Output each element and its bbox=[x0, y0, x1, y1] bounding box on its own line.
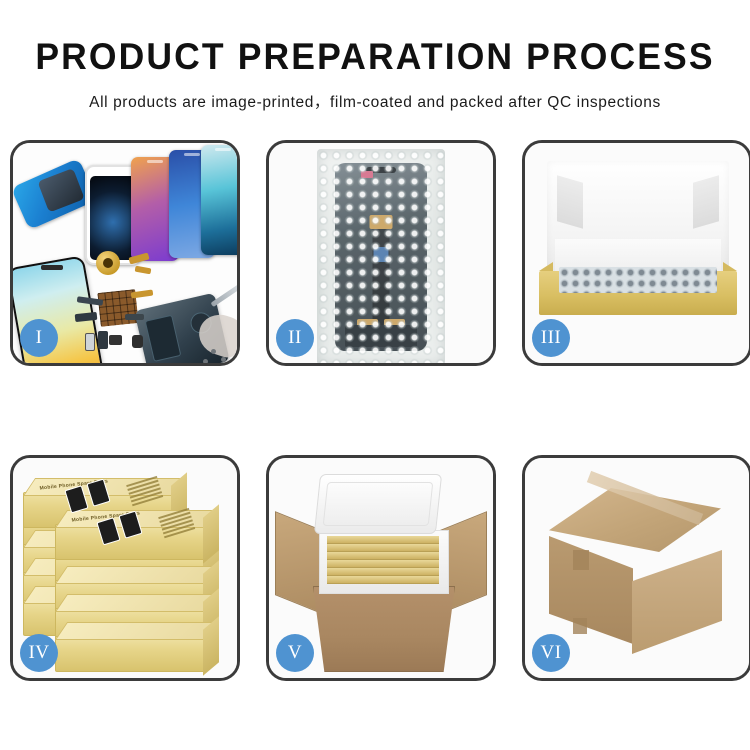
page-title: PRODUCT PREPARATION PROCESS bbox=[15, 38, 735, 75]
step-badge-4: IV bbox=[20, 634, 58, 672]
screw-part bbox=[221, 357, 226, 362]
process-step-grid: I II bbox=[10, 140, 740, 681]
foam-lid bbox=[314, 474, 442, 534]
page-subtitle: All products are image-printed，film-coat… bbox=[0, 90, 750, 112]
battery-part bbox=[85, 333, 95, 351]
bubble-wrap-bag bbox=[317, 149, 445, 363]
teal-gradient-phone bbox=[201, 145, 237, 255]
process-step-panel-5[interactable]: V bbox=[266, 455, 496, 681]
screw-part bbox=[203, 359, 208, 363]
step-badge-5: V bbox=[276, 634, 314, 672]
bubble-wrapped-contents bbox=[559, 267, 717, 293]
step-badge-6: VI bbox=[532, 634, 570, 672]
process-step-panel-2[interactable]: II bbox=[266, 140, 496, 366]
bubble-texture bbox=[317, 149, 445, 363]
carton-body bbox=[313, 586, 455, 672]
screw-part bbox=[211, 349, 216, 354]
step-badge-1: I bbox=[20, 319, 58, 357]
carton-tab bbox=[573, 618, 587, 634]
small-part bbox=[125, 314, 144, 320]
process-step-panel-3[interactable]: III bbox=[522, 140, 750, 366]
small-part bbox=[41, 265, 63, 270]
yellow-boxes-inside bbox=[327, 536, 439, 584]
carton-face-left bbox=[549, 536, 633, 644]
page-header: PRODUCT PREPARATION PROCESS All products… bbox=[0, 0, 750, 112]
camera-module-part bbox=[98, 331, 108, 349]
carton-face-right bbox=[632, 550, 722, 654]
carton-tab bbox=[573, 550, 589, 570]
process-step-panel-6[interactable]: VI bbox=[522, 455, 750, 681]
spare-parts-box bbox=[55, 636, 207, 672]
process-step-panel-4[interactable]: Mobile Phone Spare Parts Mobile Phone Sp… bbox=[10, 455, 240, 681]
step-badge-2: II bbox=[276, 319, 314, 357]
speaker-part bbox=[96, 251, 120, 275]
small-part bbox=[109, 335, 122, 345]
small-part bbox=[132, 335, 143, 348]
process-step-panel-1[interactable]: I bbox=[10, 140, 240, 366]
step-badge-3: III bbox=[532, 319, 570, 357]
